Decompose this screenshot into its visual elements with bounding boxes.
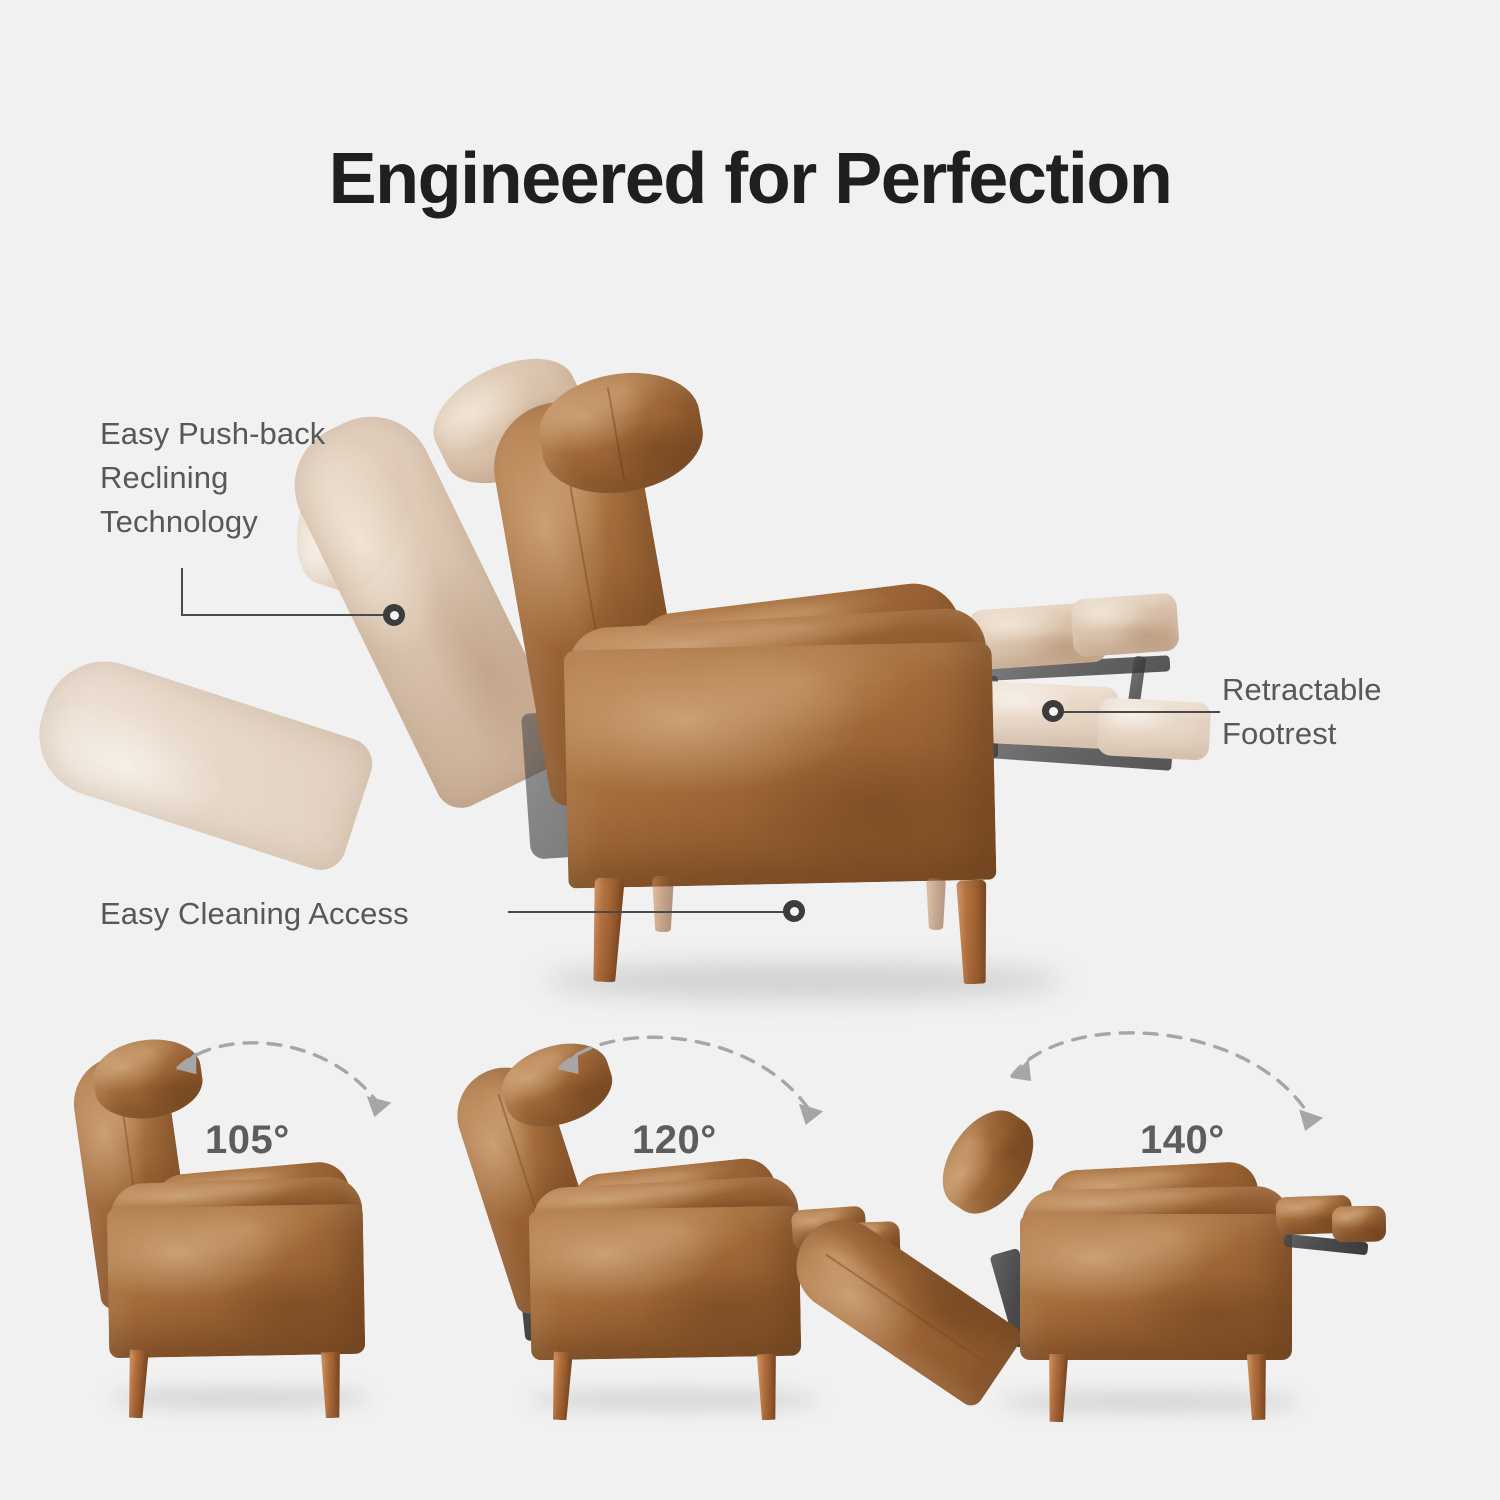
leader-line-push-back-horizontal — [181, 614, 393, 616]
leg-rear — [589, 877, 624, 982]
mini-side-panel — [1020, 1214, 1292, 1360]
leader-line-push-back-vertical — [181, 568, 183, 616]
footrest-pad-lower-extension — [1097, 697, 1212, 761]
angle-value-120: 120° — [632, 1118, 717, 1163]
ring-marker-footrest — [1042, 700, 1064, 722]
ring-marker-push-back — [383, 604, 405, 626]
infographic-page: Engineered for Perfection Easy — [0, 0, 1500, 1500]
mini-side-panel — [107, 1204, 366, 1358]
annotation-label-footrest: Retractable Footrest — [1222, 668, 1382, 756]
footrest-pad-upper-extension — [1070, 592, 1180, 657]
recline-stage-105: 105° — [70, 1040, 490, 1440]
hero-floor-shadow — [544, 964, 1064, 998]
page-title: Engineered for Perfection — [0, 138, 1500, 220]
hero-recliner-illustration — [330, 360, 1230, 1000]
mini-leg-rear — [126, 1350, 149, 1419]
mini-leg-front — [757, 1354, 778, 1421]
recline-stage-140: 140° — [940, 1040, 1360, 1440]
mini-side-panel — [529, 1206, 802, 1361]
mini-leg-front — [1247, 1354, 1268, 1421]
annotation-label-cleaning: Easy Cleaning Access — [100, 892, 409, 936]
ring-marker-cleaning — [783, 900, 805, 922]
leader-line-cleaning — [508, 911, 794, 913]
mini-leg-rear — [1047, 1354, 1068, 1423]
ghost-backrest-full-recline — [23, 645, 379, 876]
mini-leg-rear — [550, 1352, 573, 1421]
annotation-label-push-back: Easy Push-back Reclining Technology — [100, 412, 325, 544]
leg-rear-inner — [652, 876, 674, 932]
leg-front-inner — [926, 878, 946, 930]
mini-floor-shadow — [530, 1390, 820, 1410]
angle-value-140: 140° — [1140, 1118, 1225, 1163]
chair-side-panel — [564, 642, 997, 889]
leader-line-footrest — [1062, 711, 1220, 713]
angle-value-105: 105° — [205, 1118, 290, 1163]
mini-leg-front — [321, 1352, 342, 1419]
